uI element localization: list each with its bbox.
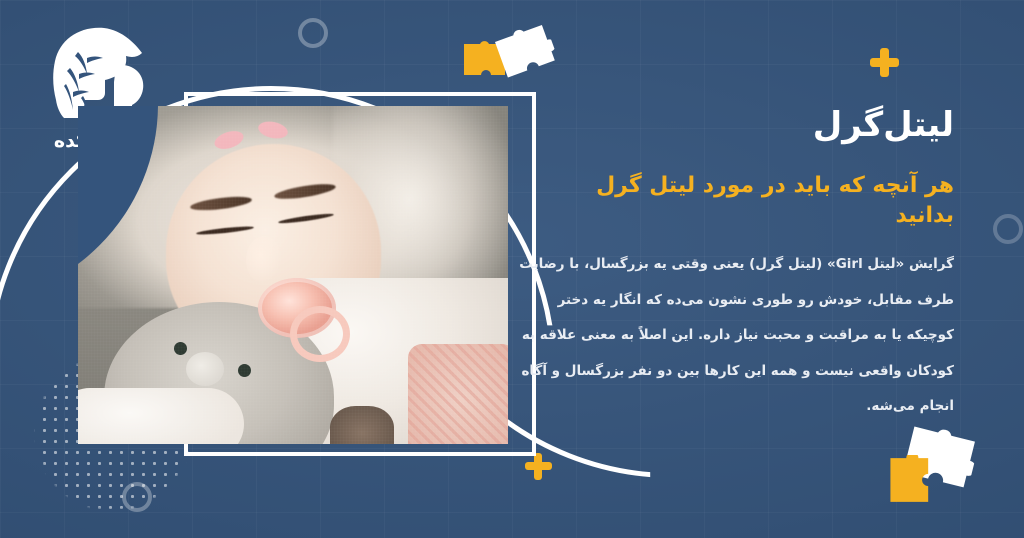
text-column: لیتل‌گرل هر آنچه که باید در مورد لیتل گر… [534,104,954,414]
puzzle-piece-icon [888,455,944,505]
body-line: انجام می‌شه. [534,400,954,414]
subtitle: هر آنچه که باید در مورد لیتل گرل بدانید [534,171,954,233]
body-line: طرف مقابل، خودش رو طوری نشون می‌ده که ان… [534,294,954,308]
ring-decoration [993,214,1023,244]
promo-banner: مشاورکده [0,0,1024,538]
body-line: کودکان واقعی نیست و همه این کارها بین دو… [534,365,954,379]
ring-decoration [298,18,328,48]
body-line: گرایش «لیتل Girl» (لیتل گرل) یعنی وقتی ی… [534,258,954,272]
hero-photo [78,106,508,444]
photo-frame [184,92,536,456]
body-line: کوچیکه یا به مراقبت و محبت نیاز داره. ای… [534,329,954,343]
body-copy: گرایش «لیتل Girl» (لیتل گرل) یعنی وقتی ی… [534,258,954,414]
page-title: لیتل‌گرل [534,104,954,147]
